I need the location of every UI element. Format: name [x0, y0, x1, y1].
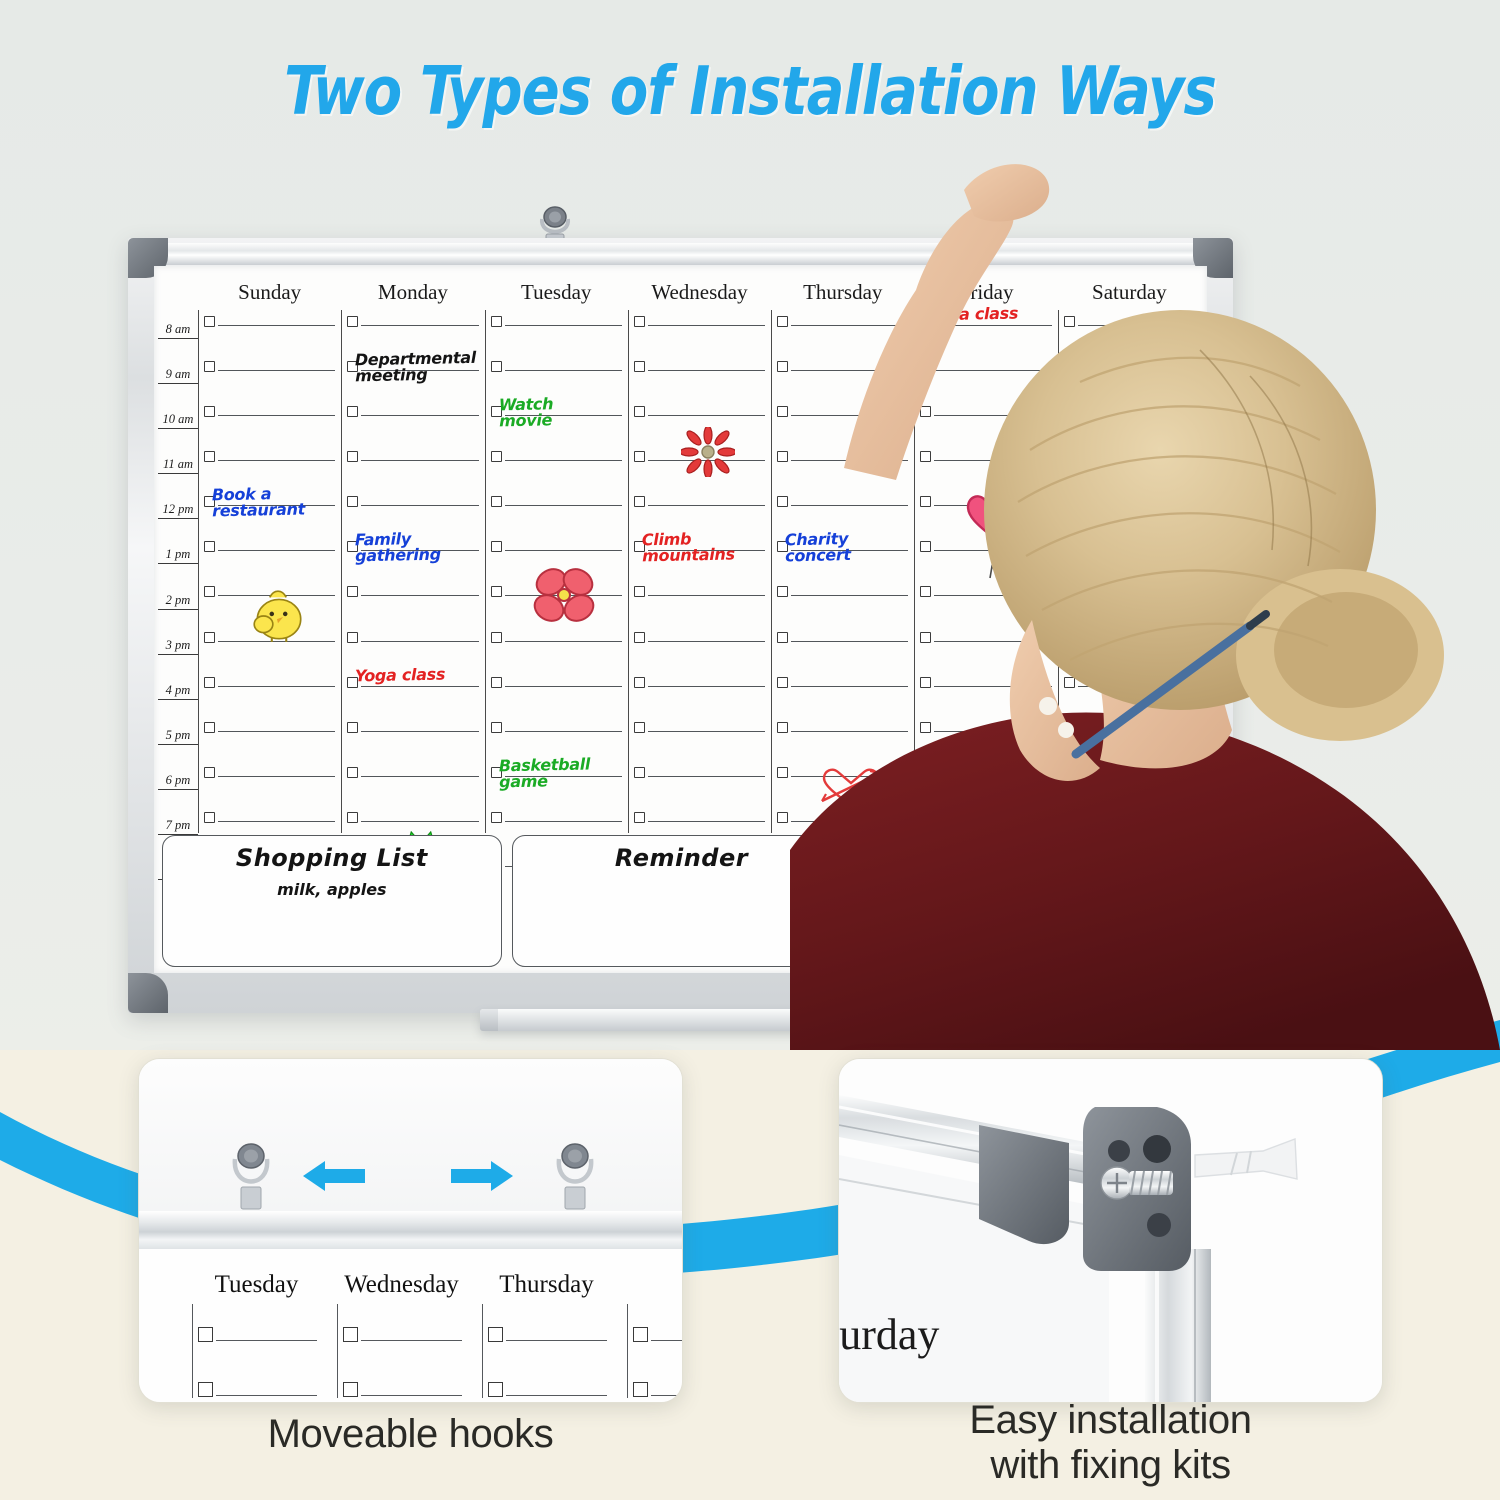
slot-writing-line[interactable]	[361, 460, 478, 461]
slot-checkbox[interactable]	[204, 586, 215, 597]
slot-writing-line[interactable]	[505, 641, 622, 642]
schedule-slot[interactable]	[342, 496, 480, 541]
slot-writing-line[interactable]	[791, 460, 908, 461]
slot-checkbox[interactable]	[634, 316, 645, 327]
slot-writing-line[interactable]	[361, 415, 478, 416]
slot-writing-line[interactable]	[1078, 550, 1195, 551]
slot-writing-line[interactable]	[648, 821, 765, 822]
pen-tray	[480, 1009, 910, 1031]
slot-checkbox[interactable]	[347, 632, 358, 643]
slot-checkbox[interactable]	[491, 767, 502, 778]
slot-writing-line[interactable]	[505, 731, 622, 732]
slot-checkbox[interactable]	[347, 541, 358, 552]
schedule-slot[interactable]	[772, 541, 910, 586]
inset-day-divider	[192, 1304, 193, 1398]
schedule-slot[interactable]	[772, 361, 910, 406]
schedule-slot[interactable]	[199, 677, 337, 722]
bottom-panels: Shopping Listmilk, applesReminderNext We…	[162, 835, 1201, 967]
day-header-sunday: Sunday	[198, 280, 341, 305]
time-label-1: 9 am	[158, 367, 198, 384]
slot-checkbox[interactable]	[491, 316, 502, 327]
slot-checkbox[interactable]	[204, 361, 215, 372]
time-label-4: 12 pm	[158, 502, 198, 519]
slot-writing-line[interactable]	[791, 415, 908, 416]
slot-writing-line[interactable]	[505, 550, 622, 551]
slot-writing-line[interactable]	[361, 641, 478, 642]
inset-slot-checkbox[interactable]	[633, 1327, 648, 1342]
slot-checkbox[interactable]	[204, 767, 215, 778]
frame-corner-bottom-right	[1193, 973, 1233, 1013]
inset-slot-checkbox[interactable]	[343, 1327, 358, 1342]
slot-checkbox[interactable]	[634, 361, 645, 372]
inset-slot-checkbox[interactable]	[633, 1382, 648, 1397]
inset-left-lower-board: TuesdayWednesdayThursday	[139, 1249, 682, 1402]
slot-writing-line[interactable]	[1078, 595, 1195, 596]
slot-checkbox[interactable]	[634, 406, 645, 417]
slot-writing-line[interactable]	[505, 370, 622, 371]
schedule-slot[interactable]	[772, 451, 910, 496]
whiteboard: SundayMondayTuesdayWednesdayThursdayFrid…	[128, 238, 1233, 1013]
slot-writing-line[interactable]	[791, 641, 908, 642]
inset-day-divider	[627, 1304, 628, 1398]
schedule-slot[interactable]	[486, 722, 624, 767]
slot-checkbox[interactable]	[1064, 541, 1075, 552]
slot-checkbox[interactable]	[1064, 586, 1075, 597]
inset-slot-line[interactable]	[361, 1340, 462, 1341]
inset-slot-line[interactable]	[506, 1395, 607, 1396]
slot-checkbox[interactable]	[634, 496, 645, 507]
panel-next-week[interactable]: Next WeekBook the travel	[861, 835, 1201, 967]
slot-writing-line[interactable]	[648, 325, 765, 326]
slot-writing-line[interactable]	[218, 731, 335, 732]
schedule-slot[interactable]	[772, 316, 910, 361]
slot-checkbox[interactable]	[347, 316, 358, 327]
slot-checkbox[interactable]	[491, 677, 502, 688]
day-header-monday: Monday	[341, 280, 484, 305]
schedule-slot[interactable]	[342, 767, 480, 812]
panel-shopping-list[interactable]: Shopping Listmilk, apples	[162, 835, 502, 967]
schedule-slot[interactable]	[629, 677, 767, 722]
slot-checkbox[interactable]	[920, 677, 931, 688]
slot-checkbox[interactable]	[920, 812, 931, 823]
slot-checkbox[interactable]	[204, 722, 215, 733]
schedule-slot[interactable]	[342, 361, 480, 406]
slot-checkbox[interactable]	[1064, 722, 1075, 733]
arrow-right-icon	[447, 1157, 517, 1195]
schedule-slot[interactable]	[629, 767, 767, 812]
inset-day-header-tuesday: Tuesday	[184, 1271, 329, 1299]
day-column-saturday[interactable]	[1058, 310, 1201, 833]
slot-writing-line[interactable]	[1078, 505, 1195, 506]
slot-checkbox[interactable]	[634, 451, 645, 462]
inset-moveable-hooks: TuesdayWednesdayThursday	[138, 1058, 683, 1403]
day-header-thursday: Thursday	[771, 280, 914, 305]
slot-writing-line[interactable]	[648, 550, 765, 551]
slot-checkbox[interactable]	[491, 632, 502, 643]
slot-writing-line[interactable]	[648, 731, 765, 732]
slot-checkbox[interactable]	[777, 541, 788, 552]
schedule-slot[interactable]	[772, 406, 910, 451]
day-column-wednesday[interactable]	[628, 310, 771, 833]
slot-writing-line[interactable]	[218, 821, 335, 822]
inset-slot-checkbox[interactable]	[488, 1327, 503, 1342]
slot-checkbox[interactable]	[777, 496, 788, 507]
slot-writing-line[interactable]	[934, 641, 1051, 642]
slot-writing-line[interactable]	[505, 325, 622, 326]
slot-checkbox[interactable]	[491, 406, 502, 417]
panel-reminder[interactable]: Reminder	[512, 835, 852, 967]
schedule-slot[interactable]	[486, 406, 624, 451]
slot-writing-line[interactable]	[791, 370, 908, 371]
schedule-slot[interactable]	[1059, 451, 1197, 496]
schedule-slot[interactable]	[772, 632, 910, 677]
schedule-slot[interactable]	[199, 316, 337, 361]
slot-writing-line[interactable]	[648, 595, 765, 596]
schedule-slot[interactable]	[1059, 496, 1197, 541]
slot-writing-line[interactable]	[361, 776, 478, 777]
inset-slot-checkbox[interactable]	[198, 1327, 213, 1342]
slot-checkbox[interactable]	[1064, 677, 1075, 688]
slot-writing-line[interactable]	[791, 505, 908, 506]
slot-checkbox[interactable]	[347, 406, 358, 417]
schedule-slot[interactable]	[486, 632, 624, 677]
slot-checkbox[interactable]	[204, 812, 215, 823]
slot-checkbox[interactable]	[634, 812, 645, 823]
slot-checkbox[interactable]	[347, 812, 358, 823]
slot-writing-line[interactable]	[361, 821, 478, 822]
schedule-slot[interactable]	[772, 677, 910, 722]
time-label-6: 2 pm	[158, 593, 198, 610]
schedule-slot[interactable]	[629, 316, 767, 361]
slot-writing-line[interactable]	[648, 641, 765, 642]
caption-easy-installation: Easy installationwith fixing kits	[838, 1398, 1383, 1488]
schedule-slot[interactable]	[1059, 316, 1197, 361]
slot-checkbox[interactable]	[634, 586, 645, 597]
slot-checkbox[interactable]	[491, 812, 502, 823]
slot-writing-line[interactable]	[934, 595, 1051, 596]
slot-writing-line[interactable]	[791, 821, 908, 822]
slot-writing-line[interactable]	[934, 821, 1051, 822]
schedule-slot[interactable]	[486, 496, 624, 541]
slot-writing-line[interactable]	[361, 550, 478, 551]
slot-checkbox[interactable]	[347, 361, 358, 372]
slot-checkbox[interactable]	[204, 677, 215, 688]
slot-writing-line[interactable]	[218, 686, 335, 687]
slot-checkbox[interactable]	[347, 451, 358, 462]
schedule-slot[interactable]	[486, 451, 624, 496]
inset-left-upper-board	[139, 1059, 682, 1211]
slot-writing-line[interactable]	[791, 595, 908, 596]
slot-writing-line[interactable]	[361, 325, 478, 326]
slot-writing-line[interactable]	[505, 505, 622, 506]
slot-checkbox[interactable]	[920, 722, 931, 733]
day-header-friday: Friday	[914, 280, 1057, 305]
slot-writing-line[interactable]	[934, 686, 1051, 687]
slot-writing-line[interactable]	[934, 460, 1051, 461]
schedule-slot[interactable]	[199, 496, 337, 541]
inset-day-divider	[337, 1304, 338, 1398]
slot-checkbox[interactable]	[491, 451, 502, 462]
panel-body: milk, apples	[163, 880, 501, 899]
panel-body: Book the travel	[862, 880, 1200, 899]
slot-writing-line[interactable]	[648, 415, 765, 416]
slot-writing-line[interactable]	[505, 821, 622, 822]
cupcake-sticker	[1094, 644, 1180, 734]
slot-writing-line[interactable]	[361, 370, 478, 371]
slot-writing-line[interactable]	[791, 731, 908, 732]
schedule-slot[interactable]	[1059, 361, 1197, 406]
slot-checkbox[interactable]	[347, 496, 358, 507]
time-label-8: 4 pm	[158, 683, 198, 700]
slot-writing-line[interactable]	[648, 686, 765, 687]
slot-checkbox[interactable]	[920, 586, 931, 597]
slot-checkbox[interactable]	[634, 677, 645, 688]
schedule-slot[interactable]	[915, 632, 1053, 677]
slot-checkbox[interactable]	[347, 767, 358, 778]
slot-checkbox[interactable]	[347, 722, 358, 733]
slot-checkbox[interactable]	[777, 586, 788, 597]
slot-writing-line[interactable]	[505, 460, 622, 461]
slot-checkbox[interactable]	[204, 316, 215, 327]
slot-checkbox[interactable]	[1064, 361, 1075, 372]
slot-checkbox[interactable]	[777, 767, 788, 778]
schedule-slot[interactable]	[342, 677, 480, 722]
schedule-slot[interactable]	[199, 451, 337, 496]
time-label-0: 8 am	[158, 322, 198, 339]
schedule-slot[interactable]	[342, 586, 480, 631]
slot-checkbox[interactable]	[204, 541, 215, 552]
schedule-slot[interactable]	[486, 316, 624, 361]
slot-writing-line[interactable]	[218, 550, 335, 551]
day-header-row: SundayMondayTuesdayWednesdayThursdayFrid…	[198, 280, 1201, 310]
slot-writing-line[interactable]	[1078, 776, 1195, 777]
panel-title: Next Week	[862, 844, 1200, 872]
slot-writing-line[interactable]	[505, 686, 622, 687]
schedule-slot[interactable]	[629, 632, 767, 677]
schedule-slot[interactable]	[1059, 586, 1197, 631]
schedule-slot[interactable]	[772, 586, 910, 631]
schedule-slot[interactable]	[915, 361, 1053, 406]
schedule-slot[interactable]	[199, 361, 337, 406]
inset-left-aluminum-rail	[139, 1211, 682, 1249]
schedule-slot[interactable]	[1059, 541, 1197, 586]
schedule-slot[interactable]	[342, 541, 480, 586]
schedule-slot[interactable]	[629, 541, 767, 586]
slot-writing-line[interactable]	[1078, 370, 1195, 371]
schedule-slot[interactable]	[342, 451, 480, 496]
slot-checkbox[interactable]	[777, 812, 788, 823]
slot-writing-line[interactable]	[791, 686, 908, 687]
schedule-slot[interactable]	[342, 316, 480, 361]
slot-writing-line[interactable]	[218, 325, 335, 326]
slot-checkbox[interactable]	[634, 632, 645, 643]
caption-moveable-hooks: Moveable hooks	[138, 1412, 683, 1457]
slot-writing-line[interactable]	[648, 370, 765, 371]
slot-checkbox[interactable]	[920, 451, 931, 462]
slot-writing-line[interactable]	[648, 505, 765, 506]
schedule-slot[interactable]	[1059, 406, 1197, 451]
slot-writing-line[interactable]	[218, 370, 335, 371]
slot-writing-line[interactable]	[1078, 460, 1195, 461]
slot-checkbox[interactable]	[204, 632, 215, 643]
schedule-slot[interactable]	[486, 677, 624, 722]
pink-flower-sticker	[529, 562, 599, 628]
panel-title: Reminder	[513, 844, 851, 872]
slot-checkbox[interactable]	[347, 677, 358, 688]
slot-checkbox[interactable]	[777, 722, 788, 733]
inset-slot-line[interactable]	[216, 1340, 317, 1341]
schedule-slot[interactable]	[915, 677, 1053, 722]
slot-checkbox[interactable]	[634, 722, 645, 733]
schedule-slot[interactable]	[486, 361, 624, 406]
slot-checkbox[interactable]	[1064, 767, 1075, 778]
slot-checkbox[interactable]	[920, 767, 931, 778]
slot-writing-line[interactable]	[1078, 415, 1195, 416]
weekly-calendar-grid: SundayMondayTuesdayWednesdayThursdayFrid…	[154, 266, 1207, 973]
slot-checkbox[interactable]	[920, 496, 931, 507]
slot-checkbox[interactable]	[204, 406, 215, 417]
schedule-slot[interactable]	[915, 406, 1053, 451]
schedule-slot[interactable]	[629, 496, 767, 541]
time-label-7: 3 pm	[158, 638, 198, 655]
day-column-monday[interactable]	[341, 310, 484, 833]
page-title: Two Types of Installation Ways	[53, 52, 1448, 130]
slot-writing-line[interactable]	[361, 686, 478, 687]
slot-writing-line[interactable]	[934, 776, 1051, 777]
day-column-thursday[interactable]	[771, 310, 914, 833]
inset-slot-line[interactable]	[651, 1340, 683, 1341]
slot-checkbox[interactable]	[491, 541, 502, 552]
slot-checkbox[interactable]	[920, 541, 931, 552]
inset-slot-checkbox[interactable]	[488, 1382, 503, 1397]
slot-checkbox[interactable]	[634, 541, 645, 552]
slot-checkbox[interactable]	[777, 406, 788, 417]
day-header-wednesday: Wednesday	[628, 280, 771, 305]
slot-writing-line[interactable]	[361, 505, 478, 506]
slot-writing-line[interactable]	[505, 776, 622, 777]
slot-writing-line[interactable]	[934, 370, 1051, 371]
schedule-slot[interactable]	[342, 632, 480, 677]
chick-sticker	[247, 585, 309, 643]
slot-checkbox[interactable]	[777, 451, 788, 462]
slot-checkbox[interactable]	[1064, 316, 1075, 327]
slot-checkbox[interactable]	[1064, 496, 1075, 507]
partial-day-label: turday	[838, 1309, 939, 1360]
schedule-slot[interactable]	[629, 722, 767, 767]
slot-checkbox[interactable]	[1064, 812, 1075, 823]
schedule-slot[interactable]	[915, 316, 1053, 361]
slot-checkbox[interactable]	[1064, 406, 1075, 417]
slot-checkbox[interactable]	[1064, 632, 1075, 643]
time-label-5: 1 pm	[158, 547, 198, 564]
inset-slot-line[interactable]	[506, 1340, 607, 1341]
slot-writing-line[interactable]	[934, 415, 1051, 416]
slot-checkbox[interactable]	[920, 632, 931, 643]
slot-writing-line[interactable]	[361, 731, 478, 732]
time-label-9: 5 pm	[158, 728, 198, 745]
schedule-slot[interactable]	[199, 541, 337, 586]
slot-checkbox[interactable]	[491, 722, 502, 733]
inset-day-divider	[482, 1304, 483, 1398]
slot-writing-line[interactable]	[1078, 641, 1195, 642]
slot-checkbox[interactable]	[204, 496, 215, 507]
whiteboard-surface: SundayMondayTuesdayWednesdayThursdayFrid…	[154, 266, 1207, 973]
slot-checkbox[interactable]	[347, 586, 358, 597]
slot-writing-line[interactable]	[361, 595, 478, 596]
slot-writing-line[interactable]	[934, 325, 1051, 326]
inset-slot-line[interactable]	[216, 1395, 317, 1396]
schedule-slot[interactable]	[342, 722, 480, 767]
time-label-10: 6 pm	[158, 773, 198, 790]
time-label-column: 8 am9 am10 am11 am12 pm1 pm2 pm3 pm4 pm5…	[158, 314, 200, 833]
slot-checkbox[interactable]	[777, 316, 788, 327]
slot-checkbox[interactable]	[777, 361, 788, 372]
day-header-tuesday: Tuesday	[485, 280, 628, 305]
slot-writing-line[interactable]	[791, 550, 908, 551]
heart-balloon-sticker	[964, 490, 1024, 580]
slot-writing-line[interactable]	[1078, 821, 1195, 822]
slot-checkbox[interactable]	[1064, 451, 1075, 462]
schedule-slot[interactable]	[486, 767, 624, 812]
inset-slot-checkbox[interactable]	[343, 1382, 358, 1397]
schedule-slot[interactable]	[915, 586, 1053, 631]
inset-slot-line[interactable]	[651, 1395, 683, 1396]
schedule-slot[interactable]	[772, 722, 910, 767]
slot-checkbox[interactable]	[920, 406, 931, 417]
schedule-slot[interactable]	[199, 767, 337, 812]
slot-writing-line[interactable]	[934, 731, 1051, 732]
inset-slot-checkbox[interactable]	[198, 1382, 213, 1397]
slot-writing-line[interactable]	[505, 415, 622, 416]
schedule-slot[interactable]	[915, 722, 1053, 767]
slot-checkbox[interactable]	[491, 586, 502, 597]
arrow-left-icon	[299, 1157, 369, 1195]
frame-corner-bottom-left	[128, 973, 168, 1013]
slot-writing-line[interactable]	[218, 460, 335, 461]
time-label-3: 11 am	[158, 457, 198, 474]
slot-writing-line[interactable]	[1078, 325, 1195, 326]
slot-checkbox[interactable]	[491, 496, 502, 507]
schedule-slot[interactable]	[629, 586, 767, 631]
slot-writing-line[interactable]	[791, 325, 908, 326]
schedule-slot[interactable]	[199, 406, 337, 451]
slot-writing-line[interactable]	[218, 776, 335, 777]
slot-writing-line[interactable]	[648, 776, 765, 777]
schedule-slot[interactable]	[772, 496, 910, 541]
inset-day-header-thursday: Thursday	[474, 1271, 619, 1299]
heart-arrow-sticker	[816, 765, 886, 809]
schedule-slot[interactable]	[199, 722, 337, 767]
hook-right-icon	[551, 1141, 599, 1213]
slot-checkbox[interactable]	[777, 677, 788, 688]
time-label-11: 7 pm	[158, 818, 198, 835]
slot-checkbox[interactable]	[634, 767, 645, 778]
slot-checkbox[interactable]	[777, 632, 788, 643]
slot-checkbox[interactable]	[920, 316, 931, 327]
schedule-slot[interactable]	[915, 767, 1053, 812]
slot-writing-line[interactable]	[218, 505, 335, 506]
slot-writing-line[interactable]	[218, 415, 335, 416]
slot-checkbox[interactable]	[920, 361, 931, 372]
day-header-saturday: Saturday	[1058, 280, 1201, 305]
slot-checkbox[interactable]	[491, 361, 502, 372]
schedule-slot[interactable]	[342, 406, 480, 451]
slot-checkbox[interactable]	[204, 451, 215, 462]
schedule-slot[interactable]	[629, 361, 767, 406]
inset-slot-line[interactable]	[361, 1395, 462, 1396]
day-column-sunday[interactable]	[198, 310, 341, 833]
schedule-slot[interactable]	[1059, 767, 1197, 812]
